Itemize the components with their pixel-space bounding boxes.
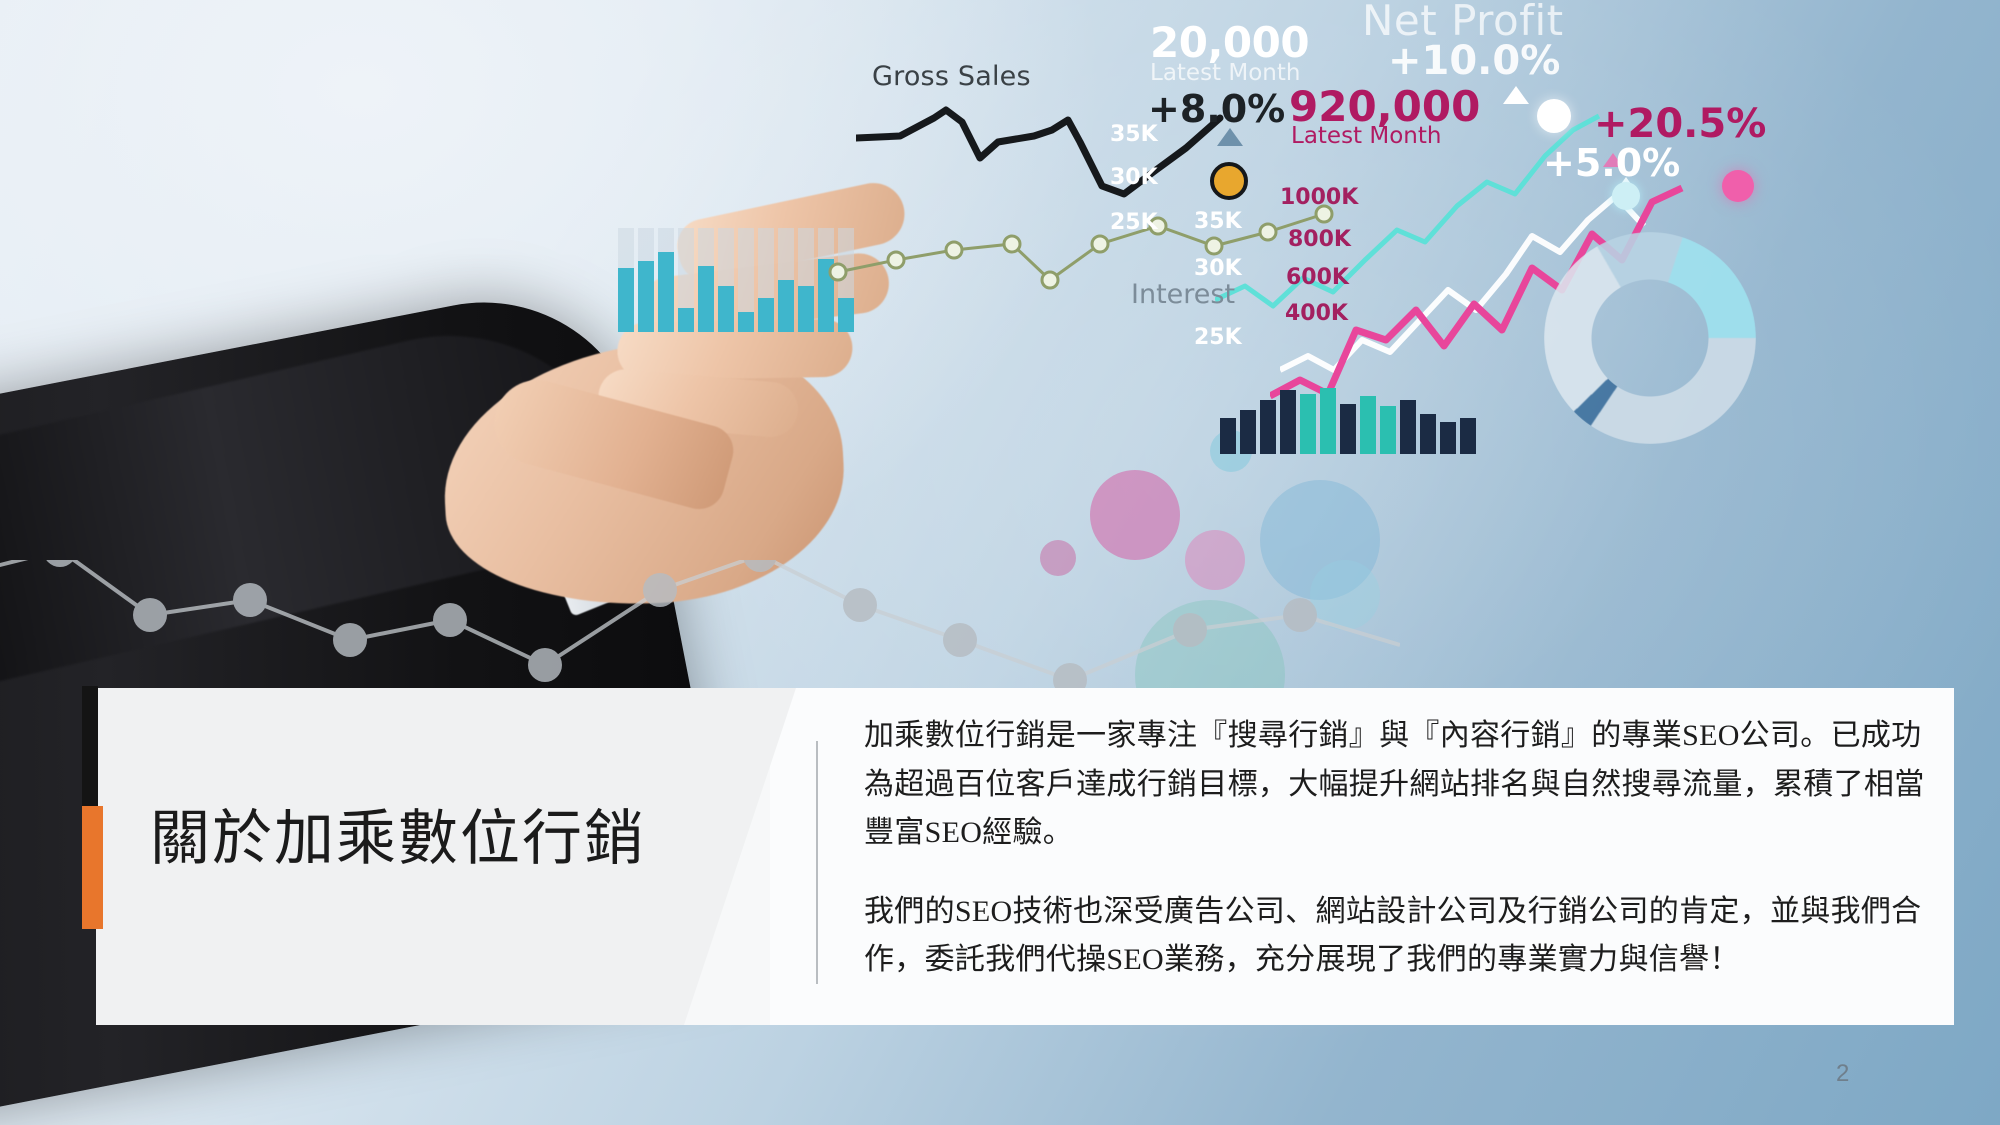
body-text-container: 加乘數位行銷是一家專注『搜尋行銷』與『內容行銷』的專業SEO公司。已成功為超過百… xyxy=(864,712,1944,985)
bar-chart-dark xyxy=(1218,388,1518,454)
page-title: 關於加乘數位行銷 xyxy=(150,806,750,872)
data-point-marker xyxy=(1722,170,1754,202)
axis-tick-revenue: 1000K xyxy=(1280,187,1358,209)
secondary-delta: +5.0% xyxy=(1543,144,1680,182)
data-point-marker xyxy=(1537,99,1571,133)
orange-accent-bar xyxy=(82,806,103,929)
axis-tick-interest: 30K xyxy=(1194,258,1242,280)
black-accent-strip xyxy=(82,686,98,809)
axis-tick-interest: 35K xyxy=(1194,211,1242,233)
up-triangle-icon xyxy=(1503,86,1529,104)
revenue-value: 920,000 xyxy=(1289,86,1480,128)
vertical-divider xyxy=(816,741,818,984)
revenue-delta: +20.5% xyxy=(1594,104,1766,144)
gross-sales-delta: +8.0% xyxy=(1148,90,1285,128)
axis-tick-revenue: 600K xyxy=(1286,267,1349,289)
axis-tick-gross: 25K xyxy=(1110,212,1158,234)
net-profit-label: Net Profit xyxy=(1362,0,1564,42)
data-point-marker xyxy=(1210,162,1248,200)
latest-month-label: Latest Month xyxy=(1150,62,1300,85)
body-paragraph: 我們的SEO技術也深受廣告公司、網站設計公司及行銷公司的肯定，並與我們合作，委託… xyxy=(864,888,1944,985)
axis-tick-gross: 35K xyxy=(1110,124,1158,146)
net-profit-delta: +10.0% xyxy=(1388,41,1560,81)
axis-tick-interest: 25K xyxy=(1194,327,1242,349)
interest-label: Interest xyxy=(1131,281,1235,308)
donut-chart xyxy=(1544,232,1756,444)
gross-sales-value: 20,000 xyxy=(1150,22,1309,64)
data-point-marker xyxy=(1612,182,1640,210)
body-paragraph: 加乘數位行銷是一家專注『搜尋行銷』與『內容行銷』的專業SEO公司。已成功為超過百… xyxy=(864,712,1944,858)
page-number: 2 xyxy=(1836,1060,1849,1088)
slide-canvas: Gross Sales Interest Net Profit 20,000 L… xyxy=(0,0,2000,1125)
axis-tick-revenue: 400K xyxy=(1285,303,1348,325)
gross-sales-label: Gross Sales xyxy=(872,63,1031,90)
axis-tick-gross: 30K xyxy=(1110,167,1158,189)
latest-month-label: Latest Month xyxy=(1291,125,1441,148)
axis-tick-revenue: 800K xyxy=(1288,229,1351,251)
